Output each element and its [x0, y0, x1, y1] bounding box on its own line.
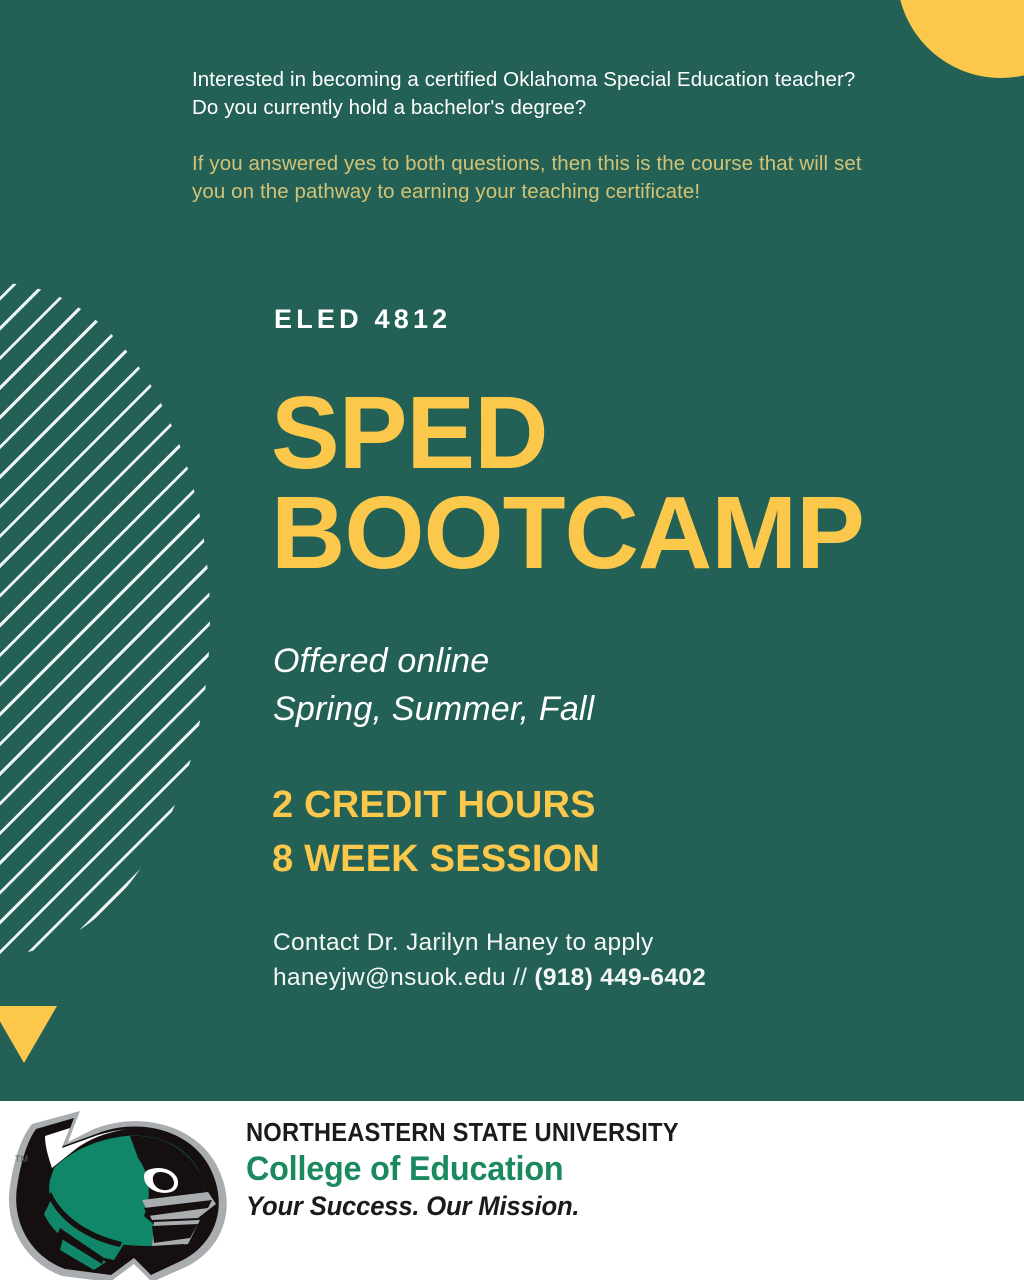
- intro-answer-line-2: you on the pathway to earning your teach…: [192, 180, 700, 203]
- diagonal-stripe-decoration-icon: [0, 283, 210, 955]
- intro-question-line-2: Do you currently hold a bachelor's degre…: [192, 96, 586, 119]
- page-title: SPED BOOTCAMP: [271, 383, 971, 583]
- intro-question-paragraph: Interested in becoming a certified Oklah…: [192, 66, 922, 122]
- course-code: ELED 4812: [274, 304, 451, 335]
- intro-copy: Interested in becoming a certified Oklah…: [192, 66, 922, 206]
- footer-bar: TM NORTHEASTERN STATE UNIVERSITY College…: [0, 1101, 1024, 1280]
- footer-wordmark: NORTHEASTERN STATE UNIVERSITY College of…: [246, 1119, 711, 1222]
- session-length-line: 8 WEEK SESSION: [272, 833, 600, 887]
- credit-hours-line: 2 CREDIT HOURS: [272, 779, 600, 833]
- intro-question-line-1: Interested in becoming a certified Oklah…: [192, 68, 855, 91]
- intro-answer-paragraph: If you answered yes to both questions, t…: [192, 150, 922, 206]
- offered-subtitle: Offered online Spring, Summer, Fall: [273, 637, 594, 734]
- college-name: College of Education: [246, 1150, 688, 1189]
- gold-triangle-decoration-icon: [0, 1006, 57, 1063]
- contact-details-line: haneyjw@nsuok.edu // (918) 449-6402: [273, 961, 706, 996]
- riverhawk-logo-icon: TM: [2, 1096, 242, 1280]
- contact-email[interactable]: haneyjw@nsuok.edu: [273, 964, 506, 991]
- university-name: NORTHEASTERN STATE UNIVERSITY: [246, 1119, 679, 1147]
- course-details: 2 CREDIT HOURS 8 WEEK SESSION: [272, 779, 600, 887]
- tagline: Your Success. Our Mission.: [246, 1191, 688, 1222]
- title-line-1: SPED: [271, 383, 971, 483]
- contact-instruction: Contact Dr. Jarilyn Haney to apply: [273, 926, 706, 961]
- title-line-2: BOOTCAMP: [271, 483, 971, 583]
- offered-line-1: Offered online: [273, 637, 594, 685]
- offered-line-2: Spring, Summer, Fall: [273, 685, 594, 733]
- trademark-text: TM: [15, 1154, 28, 1164]
- stripe-pattern: [0, 283, 210, 955]
- contact-phone[interactable]: (918) 449-6402: [534, 964, 706, 991]
- poster-main-panel: Interested in becoming a certified Oklah…: [0, 0, 1024, 1101]
- contact-separator: //: [506, 964, 534, 991]
- intro-answer-line-1: If you answered yes to both questions, t…: [192, 152, 862, 175]
- poster-canvas: Interested in becoming a certified Oklah…: [0, 0, 1024, 1280]
- contact-block: Contact Dr. Jarilyn Haney to apply haney…: [273, 926, 706, 996]
